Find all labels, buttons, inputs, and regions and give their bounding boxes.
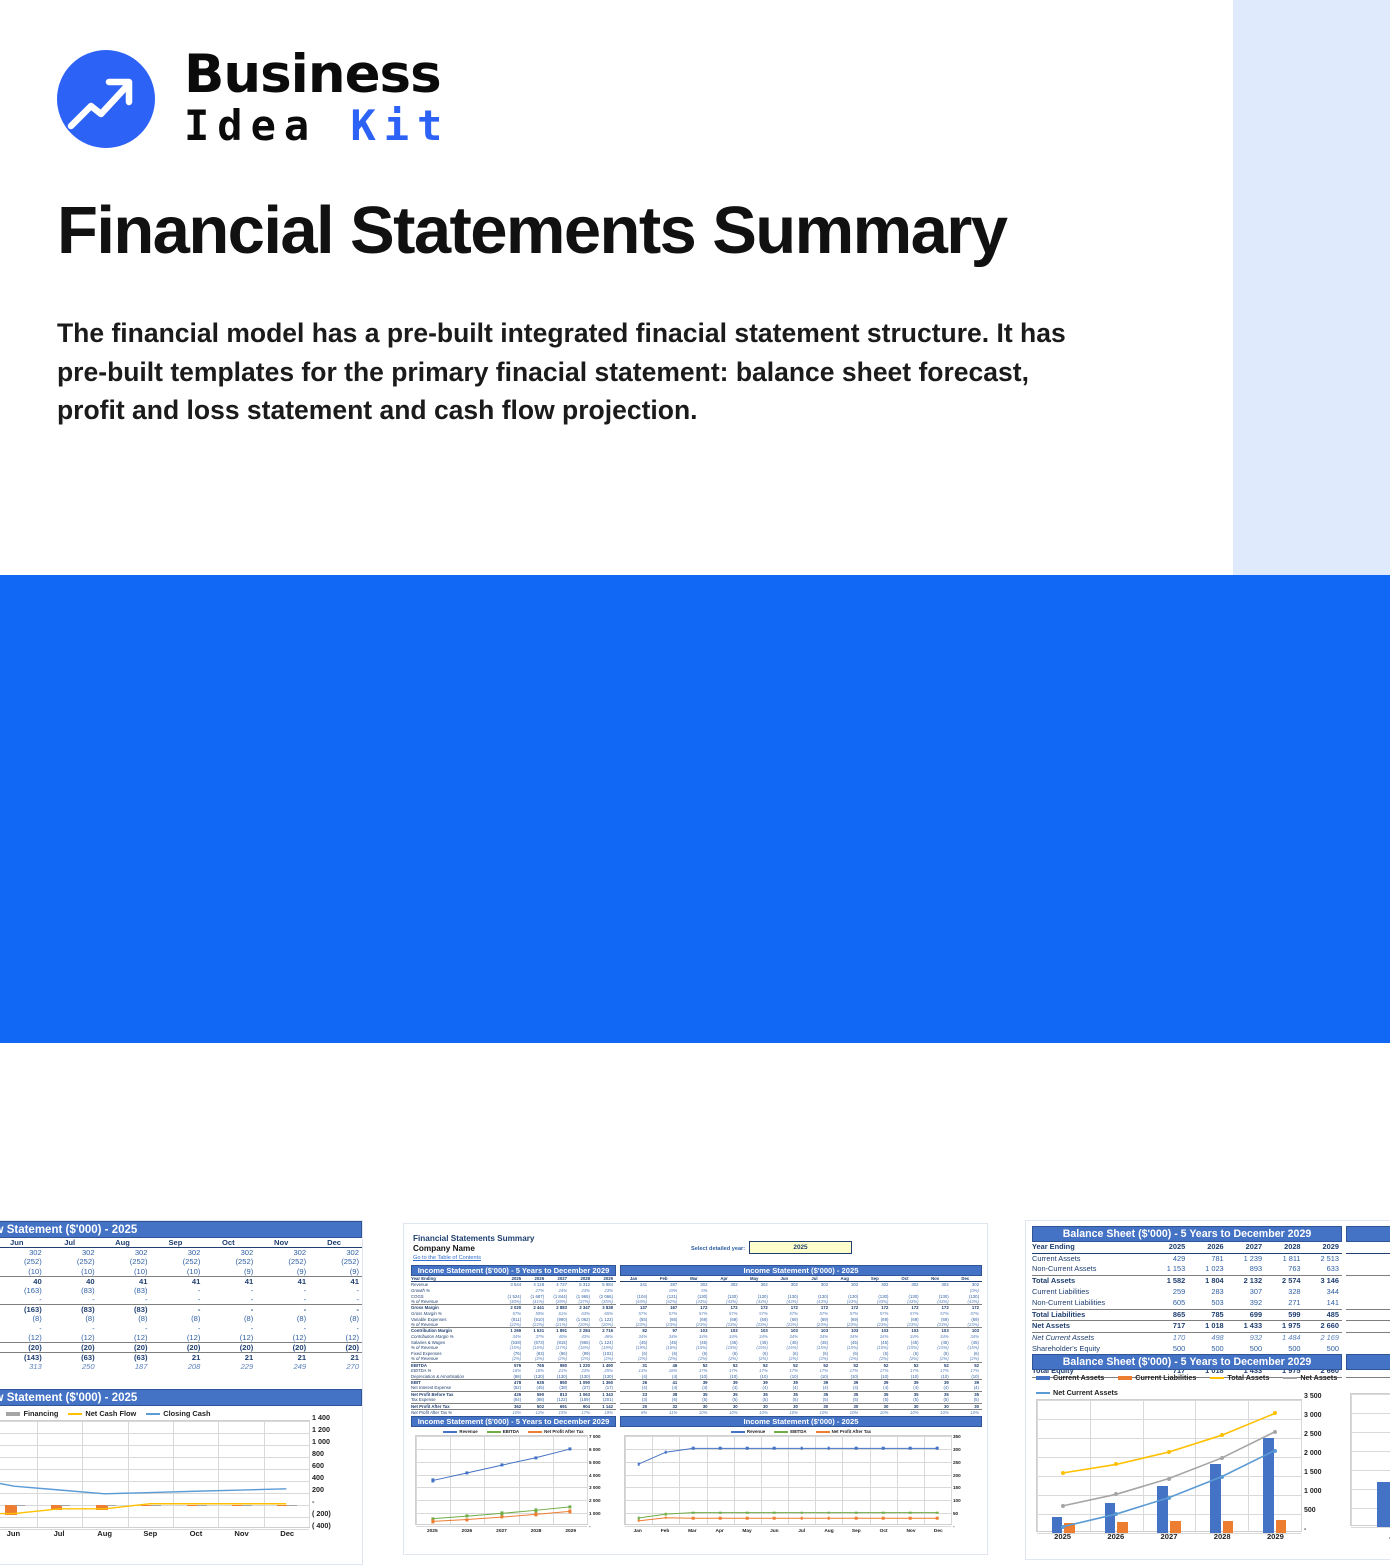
table-row: Net Profit After Tax %10%12%15%17%19% [411, 1410, 616, 1416]
table-cell: 692 [1346, 1298, 1390, 1309]
table-cell: 15% [547, 1410, 570, 1416]
table-cell: 717 [1150, 1321, 1188, 1333]
x-tick: Jun [770, 1529, 779, 1534]
table-cell: (10) [151, 1267, 204, 1277]
y-tick: 150 [953, 1485, 961, 1490]
table-cell: 893 [1227, 1264, 1265, 1275]
hero-section: Business Idea Kit Financial Statements S… [0, 0, 1390, 575]
table-cell: (20) [151, 1343, 204, 1353]
y-tick: 6 000 [589, 1447, 601, 1452]
table-cell: 785 [1188, 1309, 1226, 1321]
y-tick: 200 [312, 1485, 324, 1494]
monthly-income-statement-table: JanFebMarAprMayJunJulAugSepOctNovDec2412… [620, 1276, 982, 1415]
table-cell: 599 [1265, 1309, 1303, 1321]
brand-logo: Business Idea Kit [57, 48, 450, 149]
table-cell: (9) [309, 1267, 362, 1277]
cash-flow-table: MayJunJulAugSepOctNovDec3023023023023023… [0, 1238, 362, 1372]
table-cell: 1 174 [1346, 1253, 1390, 1264]
table-cell: (10) [98, 1267, 151, 1277]
legend-item: Current Assets [1036, 1373, 1104, 1382]
table-cell: - [309, 1286, 362, 1296]
table-cell: (163) [0, 1286, 45, 1296]
table-cell: 1 018 [1188, 1321, 1226, 1333]
cash-flow-chart-legend: InvestingFinancingNet Cash FlowClosing C… [0, 1406, 362, 1420]
table-cell: (143) [0, 1353, 45, 1363]
table-cell: 17% [570, 1410, 593, 1416]
table-row: Current Assets4297811 2391 8112 513 [1032, 1253, 1342, 1264]
column-header: Aug [98, 1238, 151, 1248]
column-header: 2026 [1188, 1242, 1226, 1253]
x-tick: Mar [688, 1529, 697, 1534]
table-cell: (63) [45, 1353, 98, 1363]
table-cell: 270 [309, 1362, 362, 1372]
table-cell: (9) [256, 1267, 309, 1277]
table-row: (141)(143)(63)(63)21212121 [0, 1353, 362, 1363]
showcase-band: Cash Flow Statement ($'000) - 2025 MayJu… [0, 575, 1390, 1043]
y-tick: 200 [953, 1473, 961, 1478]
table-row: Net Assets7171 0181 4331 9752 660 [1032, 1321, 1342, 1333]
table-cell: 10% [891, 1410, 921, 1416]
table-row: 302302302302302302302302 [0, 1248, 362, 1258]
table-cell: 208 [151, 1362, 204, 1372]
table-cell: - [203, 1295, 256, 1305]
table-row: Gross Margin %57%59%61%63%65% [411, 1311, 616, 1317]
table-cell: 93 [1346, 1287, 1390, 1298]
x-tick: Nov [234, 1529, 248, 1538]
table-cell: (10) [45, 1267, 98, 1277]
table-cell: 2 574 [1265, 1276, 1303, 1287]
cash-flow-x-axis: MayJunJulAugSepOctNovDec [0, 1529, 310, 1541]
y-tick: 3 000 [589, 1485, 601, 1490]
table-cell: 3 146 [1304, 1276, 1342, 1287]
balance-sheet-x-axis: 20252026202720282029 [1036, 1532, 1302, 1544]
table-cell: 41 [98, 1276, 151, 1286]
annual-is-chart-legend: RevenueEBITDANet Profit After Tax [411, 1427, 616, 1435]
y-tick: 250 [953, 1460, 961, 1465]
annual-income-statement-table: Year Ending20252026202720282029Revenue3 … [411, 1276, 616, 1415]
table-cell: (12) [151, 1333, 204, 1343]
balance-sheet-chart-legend: Current AssetsCurrent LiabilitiesTotal A… [1032, 1370, 1342, 1399]
column-header: Sep [151, 1238, 204, 1248]
legend-item: Net Current Assets [1036, 1388, 1118, 1397]
center-company-name: Company Name [413, 1244, 475, 1253]
table-cell: 1 081 [1346, 1332, 1390, 1343]
y-tick: 1 000 [312, 1437, 330, 1446]
balance-sheet-y-axis: 3 5003 0002 5002 0001 5001 000500- [1304, 1397, 1340, 1530]
table-row: (163)(163)(83)(83)---- [0, 1305, 362, 1315]
table-cell: 41 [256, 1276, 309, 1286]
x-tick: Jun [7, 1529, 21, 1538]
y-tick: 400 [312, 1473, 324, 1482]
table-cell: 141 [1304, 1298, 1342, 1309]
x-tick: 2027 [1161, 1532, 1178, 1541]
y-tick: 300 [953, 1447, 961, 1452]
legend-item: Total Assets [1210, 1373, 1269, 1382]
table-row: Shareholder's Equity500500500500500 [1032, 1343, 1342, 1354]
table-row: 1 174 [1346, 1253, 1390, 1264]
table-cell: - [151, 1295, 204, 1305]
x-tick: 2026 [1107, 1532, 1124, 1541]
table-row: Year Ending20252026202720282029 [1032, 1242, 1342, 1253]
table-cell: 124 [1346, 1264, 1390, 1275]
x-tick: Nov [906, 1529, 915, 1534]
table-cell: (83) [45, 1305, 98, 1315]
legend-item: Net Assets [1283, 1373, 1337, 1382]
monthly-is-x-axis: JanFebMarAprMayJunJulAugSepOctNovDec [624, 1529, 952, 1539]
table-row: Net Interest Expense(52)(45)(38)(27)(17) [411, 1385, 616, 1391]
table-row: (163)(163)(83)(83)---- [0, 1286, 362, 1296]
table-cell: 170 [1150, 1332, 1188, 1343]
x-tick: 2029 [1267, 1532, 1284, 1541]
y-tick: 3 000 [1304, 1412, 1322, 1419]
balance-sheet-screenshot[interactable]: Balance Sheet ($'000) - 5 Years to Decem… [1025, 1220, 1390, 1560]
legend-item: Revenue [443, 1429, 477, 1434]
center-heading: Financial Statements Summary [413, 1234, 535, 1243]
table-cell: 249 [256, 1362, 309, 1372]
x-tick: Aug [824, 1529, 833, 1534]
table-row: -------- [0, 1295, 362, 1305]
table-cell: (163) [0, 1305, 45, 1315]
table-cell: (12) [45, 1333, 98, 1343]
table-cell: 932 [1227, 1332, 1265, 1343]
table-cell: 302 [203, 1248, 256, 1258]
x-tick: Oct [880, 1529, 888, 1534]
hero-accent-panel [1233, 0, 1390, 575]
table-cell: - [45, 1324, 98, 1334]
table-cell: - [203, 1286, 256, 1296]
y-tick: ( 200) [312, 1509, 331, 1518]
table-cell: (20) [256, 1343, 309, 1353]
y-tick: 1 500 [1304, 1469, 1322, 1476]
balance-sheet-extra-title [1346, 1226, 1390, 1242]
table-cell: 10% [922, 1410, 952, 1416]
table-cell: 500 [1227, 1343, 1265, 1354]
table-row: Non-Current Liabilities605503392271141 [1032, 1298, 1342, 1309]
table-cell: 1 975 [1265, 1321, 1303, 1333]
x-tick: Jan [634, 1529, 642, 1534]
table-row: Total Assets1 5821 8042 1322 5743 146 [1032, 1276, 1342, 1287]
table-cell: 229 [203, 1362, 256, 1372]
table-cell: (20) [0, 1343, 45, 1353]
table-cell: 41 [203, 1276, 256, 1286]
table-cell: 344 [1304, 1287, 1342, 1298]
column-header: 2028 [1265, 1242, 1303, 1253]
table-cell: 10% [861, 1410, 891, 1416]
table-cell: (20) [203, 1343, 256, 1353]
table-cell: (9) [203, 1267, 256, 1277]
y-tick: 2 500 [1304, 1431, 1322, 1438]
table-cell: 10% [741, 1410, 771, 1416]
table-row: 124 [1346, 1264, 1390, 1275]
table-cell: 498 [1188, 1332, 1226, 1343]
table-cell: (63) [98, 1353, 151, 1363]
balance-sheet-chart-title: Balance Sheet ($'000) - 5 Years to Decem… [1032, 1354, 1342, 1370]
y-tick: 5 000 [589, 1460, 601, 1465]
row-label: Current Assets [1032, 1253, 1150, 1264]
x-tick: 2027 [496, 1529, 507, 1534]
monthly-is-chart-plot [624, 1435, 952, 1525]
table-row: Depreciation & Amortisation(98)(130)(130… [411, 1374, 616, 1380]
table-cell: 2 169 [1304, 1332, 1342, 1343]
table-row: 8%11%10%10%10%10%10%10%10%10%10%10% [620, 1410, 982, 1416]
x-tick: May [742, 1529, 751, 1534]
x-tick: Sep [143, 1529, 157, 1538]
table-cell: - [0, 1324, 45, 1334]
legend-item: Net Cash Flow [68, 1409, 136, 1418]
legend-item: Revenue [731, 1429, 765, 1434]
y-tick: 4 000 [589, 1473, 601, 1478]
y-tick: 350 [953, 1434, 961, 1439]
column-header: Jun [0, 1238, 45, 1248]
table-cell: (8) [98, 1314, 151, 1324]
table-cell: 2 660 [1304, 1321, 1342, 1333]
column-header: Nov [256, 1238, 309, 1248]
table-cell: 485 [1304, 1309, 1342, 1321]
row-label: Non-Current Liabilities [1032, 1298, 1150, 1309]
y-tick: 1 000 [1304, 1488, 1322, 1495]
table-row: 692 [1346, 1298, 1390, 1309]
row-label: Total Assets [1032, 1276, 1150, 1287]
table-cell: 1 153 [1150, 1264, 1188, 1275]
table-row: (13)(12)(12)(12)(12)(12)(12)(12) [0, 1333, 362, 1343]
x-tick: 2028 [1214, 1532, 1231, 1541]
y-tick: 600 [312, 1461, 324, 1470]
column-header: Dec [309, 1238, 362, 1248]
table-cell: 12% [524, 1410, 547, 1416]
row-label: Current Liabilities [1032, 1287, 1150, 1298]
table-cell: (8) [0, 1314, 45, 1324]
table-cell: 781 [1188, 1253, 1226, 1264]
table-cell: 21 [309, 1353, 362, 1363]
annual-is-y-axis: 7 0006 0005 0004 0003 0002 0001 000- [589, 1437, 615, 1527]
y-tick: 50 [953, 1511, 958, 1516]
x-tick: 2026 [462, 1529, 473, 1534]
table-cell: 302 [45, 1248, 98, 1258]
table-row: (21)(20)(20)(20)(20)(20)(20)(20) [0, 1343, 362, 1353]
table-row: (8)(8)(8)(8)(8)(8)(8)(8) [0, 1314, 362, 1324]
table-cell: 10% [801, 1410, 831, 1416]
table-cell: 500 [1188, 1343, 1226, 1354]
annual-is-table-title: Income Statement ($'000) - 5 Years to De… [411, 1265, 616, 1276]
table-cell: 10% [771, 1410, 801, 1416]
table-cell: - [256, 1286, 309, 1296]
monthly-is-y-axis: 35030025020015010050- [953, 1437, 980, 1527]
balance-sheet-extra-chart-title [1346, 1354, 1390, 1370]
monthly-is-chart-title: Income Statement ($'000) - 2025 [620, 1416, 982, 1427]
x-tick: 2025 [1054, 1532, 1071, 1541]
table-cell: (8) [309, 1314, 362, 1324]
table-row: 500 [1346, 1343, 1390, 1354]
financial-summary-screenshot[interactable]: Financial Statements Summary Company Nam… [403, 1223, 988, 1555]
table-cell: - [151, 1305, 204, 1315]
table-cell: 10% [831, 1410, 861, 1416]
table-cell: 2 513 [1304, 1253, 1342, 1264]
table-cell: (252) [98, 1257, 151, 1267]
cash-flow-screenshot[interactable]: Cash Flow Statement ($'000) - 2025 MayJu… [0, 1220, 363, 1565]
table-cell: (252) [256, 1257, 309, 1267]
table-row: Non-Current Assets1 1531 023893763633 [1032, 1264, 1342, 1275]
table-cell: 1 582 [1150, 1276, 1188, 1287]
table-row: 4340404141414141 [0, 1276, 362, 1286]
table-cell: - [256, 1324, 309, 1334]
y-tick: 100 [953, 1498, 961, 1503]
table-cell: 302 [309, 1248, 362, 1258]
table-cell: 302 [98, 1248, 151, 1258]
table-cell: 19% [593, 1410, 616, 1416]
table-cell: (20) [309, 1343, 362, 1353]
table-cell: (252) [309, 1257, 362, 1267]
table-row: 786 [1346, 1309, 1390, 1321]
table-row: 1 081 [1346, 1332, 1390, 1343]
y-tick: - [589, 1524, 591, 1529]
balance-sheet-chart-plot [1036, 1399, 1302, 1532]
table-cell: (12) [256, 1333, 309, 1343]
legend-item: EBITDA [487, 1429, 519, 1434]
row-label: Net Profit After Tax % [411, 1410, 501, 1416]
table-cell: (8) [203, 1314, 256, 1324]
table-cell: (12) [0, 1333, 45, 1343]
table-cell: (83) [98, 1286, 151, 1296]
table-cell: 8% [620, 1410, 650, 1416]
column-header: Jan [1346, 1242, 1390, 1253]
table-row: Net Profit After Tax3625026919041 142 [411, 1403, 616, 1409]
select-year-label: Select detailed year: [691, 1246, 745, 1252]
table-cell: 302 [0, 1248, 45, 1258]
table-cell: 865 [1150, 1309, 1188, 1321]
x-tick: Jul [54, 1529, 65, 1538]
y-tick: 500 [1304, 1507, 1316, 1514]
table-cell: 21 [151, 1353, 204, 1363]
table-cell: 187 [98, 1362, 151, 1372]
table-cell: - [98, 1295, 151, 1305]
table-cell: (12) [203, 1333, 256, 1343]
annual-is-x-axis: 20252026202720282029 [415, 1529, 588, 1539]
table-cell: 1 811 [1265, 1253, 1303, 1264]
row-label: Net Assets [1032, 1321, 1150, 1333]
row-label: Shareholder's Equity [1032, 1343, 1150, 1354]
table-cell: 763 [1265, 1264, 1303, 1275]
table-cell: - [256, 1295, 309, 1305]
legend-item: Net Profit After Tax [528, 1429, 584, 1434]
table-row: 1 297 [1346, 1276, 1390, 1287]
table-cell: 500 [1265, 1343, 1303, 1354]
table-cell: 500 [1304, 1343, 1342, 1354]
table-cell: 1 484 [1265, 1332, 1303, 1343]
table-cell: - [309, 1324, 362, 1334]
table-cell: 503 [1188, 1298, 1226, 1309]
table-cell: - [203, 1324, 256, 1334]
table-cell: (252) [0, 1257, 45, 1267]
table-cell: 10% [952, 1410, 982, 1416]
cash-flow-table-title: Cash Flow Statement ($'000) - 2025 [0, 1221, 362, 1238]
column-header: Oct [203, 1238, 256, 1248]
table-cell: (83) [45, 1286, 98, 1296]
table-cell: 1 804 [1188, 1276, 1226, 1287]
row-label: Non-Current Assets [1032, 1264, 1150, 1275]
table-row: Contribution Margin %34%37%40%43%46% [411, 1334, 616, 1340]
x-tick: Apr [716, 1529, 724, 1534]
table-cell: 302 [151, 1248, 204, 1258]
y-tick: 1 200 [312, 1425, 330, 1434]
table-cell: 1 297 [1346, 1276, 1390, 1287]
table-cell: - [256, 1305, 309, 1315]
table-row: -------- [0, 1324, 362, 1334]
table-cell: - [0, 1295, 45, 1305]
table-cell: 302 [256, 1248, 309, 1258]
table-cell: 21 [256, 1353, 309, 1363]
table-row: (249)(252)(252)(252)(252)(252)(252)(252) [0, 1257, 362, 1267]
row-label: Total Liabilities [1032, 1309, 1150, 1321]
table-cell: (12) [98, 1333, 151, 1343]
table-cell: (8) [45, 1314, 98, 1324]
legend-item: Net Profit After Tax [816, 1429, 872, 1434]
column-header: 2029 [1304, 1242, 1342, 1253]
table-cell: (83) [98, 1305, 151, 1315]
table-row: Contribution Margin1 2691 5311 8912 2842… [411, 1328, 616, 1334]
table-cell: 10% [501, 1410, 524, 1416]
table-cell: 786 [1346, 1309, 1390, 1321]
page-title: Financial Statements Summary [57, 196, 1177, 266]
column-header: 2027 [1227, 1242, 1265, 1253]
table-cell: 21 [203, 1353, 256, 1363]
table-cell: 500 [1150, 1343, 1188, 1354]
x-tick: 2025 [427, 1529, 438, 1534]
table-cell: 605 [1150, 1298, 1188, 1309]
table-cell: 392 [1227, 1298, 1265, 1309]
table-cell: (12) [309, 1333, 362, 1343]
cash-flow-chart-plot [0, 1420, 310, 1528]
table-cell: - [45, 1295, 98, 1305]
table-row: Current Liabilities259283307328344 [1032, 1287, 1342, 1298]
table-cell: 328 [1265, 1287, 1303, 1298]
x-tick: Oct [190, 1529, 203, 1538]
y-tick: 2 000 [589, 1498, 601, 1503]
row-label: Net Current Assets [1032, 1332, 1150, 1343]
table-cell: (252) [151, 1257, 204, 1267]
table-of-contents-link[interactable]: Go to the Table of Contents [413, 1255, 481, 1261]
page-description: The financial model has a pre-built inte… [57, 314, 1087, 430]
table-cell: (252) [45, 1257, 98, 1267]
logo-kit-text: Kit [350, 101, 450, 150]
balance-sheet-extra-x-axis: Jan [1350, 1532, 1390, 1544]
legend-item: Financing [6, 1409, 58, 1418]
table-cell: 313 [0, 1362, 45, 1372]
logo-wordmark-line2: Idea Kit [184, 103, 450, 149]
table-cell: (8) [256, 1314, 309, 1324]
x-tick: Dec [934, 1529, 943, 1534]
logo-idea-text: Idea [184, 101, 317, 150]
table-cell: (10) [0, 1267, 45, 1277]
table-cell: (8) [151, 1314, 204, 1324]
cash-flow-chart-title: Cash Flow Statement ($'000) - 2025 [0, 1389, 362, 1406]
table-cell: - [151, 1286, 204, 1296]
table-cell: 40 [45, 1276, 98, 1286]
y-tick: 1 400 [312, 1413, 330, 1422]
cash-flow-y-axis: 1 4001 2001 000800600400200-( 200)( 400) [312, 1417, 358, 1525]
y-tick: 800 [312, 1449, 324, 1458]
table-cell: 10% [680, 1410, 710, 1416]
select-year-input[interactable]: 2025 [749, 1241, 852, 1254]
x-tick: Aug [97, 1529, 112, 1538]
table-cell: - [98, 1324, 151, 1334]
table-cell: 307 [1227, 1287, 1265, 1298]
balance-sheet-table-title: Balance Sheet ($'000) - 5 Years to Decem… [1032, 1226, 1342, 1242]
table-cell: (20) [98, 1343, 151, 1353]
x-tick: 2028 [531, 1529, 542, 1534]
legend-item: EBITDA [774, 1429, 806, 1434]
monthly-is-chart-legend: RevenueEBITDANet Profit After Tax [620, 1427, 982, 1435]
annual-is-chart-plot [415, 1435, 588, 1525]
